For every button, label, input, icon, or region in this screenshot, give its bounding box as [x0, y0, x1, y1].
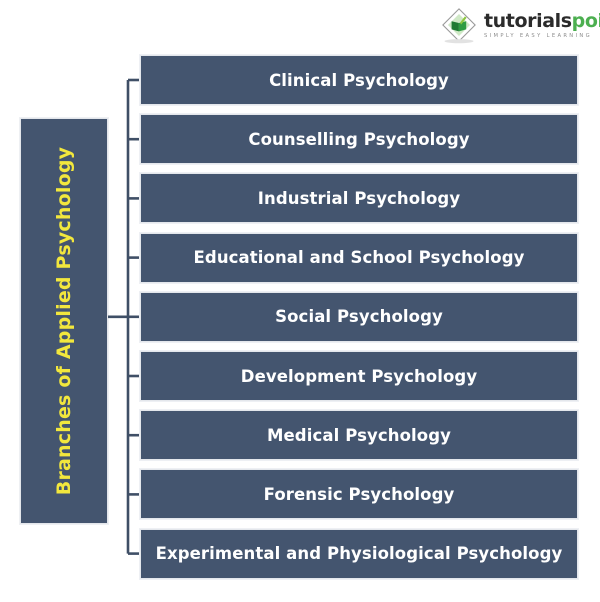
logo-word-point: point [572, 10, 600, 32]
branch-node: Counselling Psychology [140, 114, 578, 164]
tutorialspoint-logo: tutorialspoint SIMPLY EASY LEARNING [438, 4, 596, 46]
branch-node-label: Medical Psychology [267, 426, 451, 445]
branch-node-list: Clinical PsychologyCounselling Psycholog… [140, 55, 578, 588]
branch-node-label: Educational and School Psychology [194, 248, 525, 267]
branch-node: Industrial Psychology [140, 173, 578, 223]
branch-node: Forensic Psychology [140, 469, 578, 519]
branch-node-label: Development Psychology [241, 367, 477, 386]
diagram-canvas: tutorialspoint SIMPLY EASY LEARNING Bran… [0, 0, 600, 602]
branch-node-label: Social Psychology [275, 307, 443, 326]
branch-node: Experimental and Physiological Psycholog… [140, 529, 578, 579]
logo-word-tutorials: tutorials [484, 10, 572, 32]
open-book-diamond-icon [438, 4, 480, 46]
branch-node: Clinical Psychology [140, 55, 578, 105]
logo-wordmark: tutorialspoint SIMPLY EASY LEARNING [484, 11, 600, 39]
branch-node: Development Psychology [140, 351, 578, 401]
branch-node-label: Industrial Psychology [258, 189, 460, 208]
branch-node: Educational and School Psychology [140, 233, 578, 283]
root-node-branches-of-applied-psychology: Branches of Applied Psychology [20, 118, 108, 524]
branch-node-label: Forensic Psychology [264, 485, 455, 504]
branch-node: Social Psychology [140, 292, 578, 342]
logo-wordmark-text: tutorialspoint [484, 12, 600, 31]
branch-node: Medical Psychology [140, 410, 578, 460]
branch-node-label: Experimental and Physiological Psycholog… [156, 544, 563, 563]
branch-node-label: Clinical Psychology [269, 71, 449, 90]
branch-node-label: Counselling Psychology [248, 130, 469, 149]
root-node-label: Branches of Applied Psychology [53, 147, 75, 495]
logo-tagline: SIMPLY EASY LEARNING [484, 34, 600, 39]
